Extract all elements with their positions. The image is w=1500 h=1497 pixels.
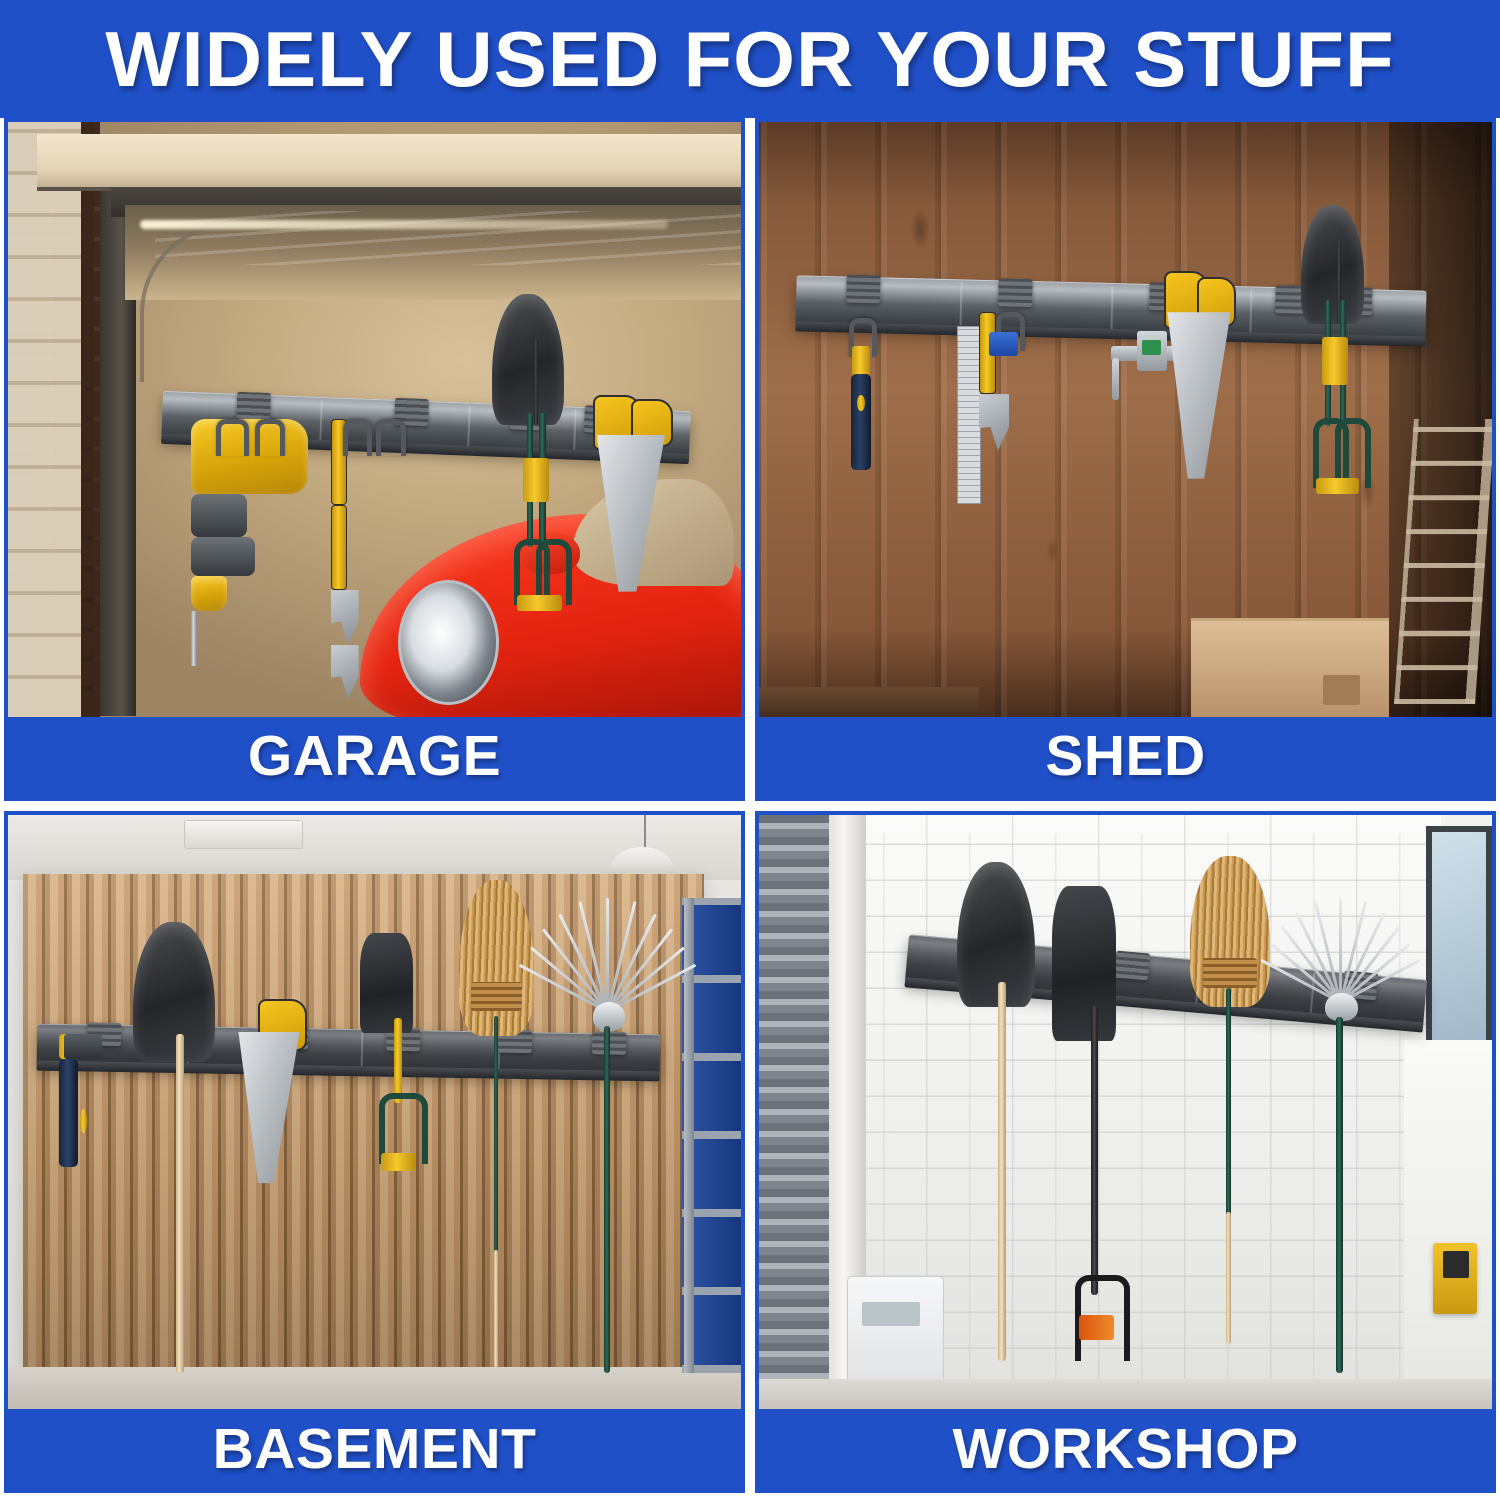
ceiling-vent [184, 820, 303, 849]
tool-loppers [499, 413, 580, 615]
broom-handle [1226, 988, 1231, 1222]
panel-shed: SHED [755, 118, 1496, 801]
panel-workshop: WORKSHOP [755, 811, 1496, 1494]
caliper-jaw [1112, 358, 1119, 400]
broom-handle-tip [494, 1250, 498, 1367]
hook [376, 419, 405, 456]
broom-handle [494, 1016, 498, 1260]
tool-corn-broom [1184, 856, 1279, 1343]
tool-shovel [957, 862, 1060, 1361]
hammer-head [64, 1034, 102, 1059]
caption-label: SHED [1045, 728, 1205, 785]
wrench-handle [331, 505, 347, 590]
caption-workshop: WORKSHOP [759, 1409, 1492, 1489]
header-banner: WIDELY USED FOR YOUR STUFF [0, 0, 1500, 118]
tool-rotary-hammer-drill [191, 419, 330, 615]
hook-bracket [846, 274, 881, 303]
ruler-body [957, 326, 981, 505]
tool-hand-saw [1162, 271, 1250, 479]
shovel-blade [133, 922, 215, 1062]
hook [216, 419, 248, 455]
caption-label: BASEMENT [213, 1421, 537, 1478]
caption-label: WORKSHOP [953, 1421, 1299, 1478]
shovel-blade [492, 294, 564, 425]
box-label [1323, 675, 1360, 705]
spade-shaft [1091, 1006, 1098, 1296]
tool-spade [360, 933, 441, 1183]
spade-grip-bar [381, 1153, 416, 1170]
garage-photo [8, 122, 741, 717]
tool-loppers [1301, 300, 1374, 502]
roller-door [759, 815, 840, 1410]
tool-fan-rake [543, 898, 675, 1374]
tool-steel-ruler [957, 318, 979, 502]
panel-basement: BASEMENT [4, 811, 745, 1494]
ceiling-light [140, 220, 668, 229]
workshop-photo [759, 815, 1492, 1410]
shovel-shaft [176, 1034, 184, 1373]
drill-motor [191, 494, 247, 537]
stone-column [8, 122, 81, 717]
broom-band [471, 982, 522, 1011]
hammer-grip [59, 1059, 77, 1167]
broom-band [1203, 958, 1256, 987]
page-title: WIDELY USED FOR YOUR STUFF [105, 20, 1394, 98]
product-infographic: WIDELY USED FOR YOUR STUFF [0, 0, 1500, 1497]
tool-adjustable-wrench-pair [331, 419, 419, 580]
rake-tine [1339, 898, 1342, 1003]
lopper-base [1316, 478, 1359, 494]
basement-photo [8, 815, 741, 1410]
tool-shovel [492, 294, 587, 425]
hook [255, 419, 284, 455]
shovel-shaft [534, 339, 539, 425]
broom-bristles [459, 880, 535, 1036]
boiler-display [862, 1302, 921, 1326]
drill-bit [191, 611, 197, 666]
tool-hand-saw [587, 395, 682, 591]
saw-blade [597, 435, 666, 592]
basement-floor [8, 1367, 741, 1409]
spade-grip-bar [1079, 1315, 1114, 1340]
hook [343, 419, 372, 456]
lopper-base [517, 595, 562, 611]
door-lintel [37, 134, 741, 192]
spade-blade [360, 933, 413, 1033]
panel-garage: GARAGE [4, 118, 745, 801]
rake-tine [606, 898, 609, 1012]
tool-spade [1052, 886, 1155, 1385]
rake-handle [1336, 1017, 1343, 1374]
car-headlight [398, 580, 499, 705]
wrench-blue-insert [989, 332, 1017, 355]
spade-shaft [394, 1018, 402, 1103]
shovel-blade [957, 862, 1035, 1007]
wrench-jaw [979, 394, 1009, 451]
tool-fan-rake [1272, 898, 1411, 1374]
saw-blade [238, 1032, 299, 1183]
window [1426, 826, 1492, 1064]
lopper-grip [1322, 337, 1348, 386]
shed-photo [759, 122, 1492, 717]
hook-bracket [236, 392, 271, 420]
gauge-face [1443, 1251, 1469, 1278]
rake-handle [604, 1026, 611, 1373]
caliper-display [1142, 340, 1161, 355]
caption-basement: BASEMENT [8, 1409, 741, 1489]
saw-blade [1167, 312, 1230, 478]
tool-shovel [133, 922, 236, 1374]
tool-utility-knife [840, 318, 884, 473]
tool-adjustable-wrench [979, 312, 1038, 478]
scene-grid: GARAGE [0, 118, 1500, 1497]
tool-corn-broom [455, 880, 543, 1367]
lopper-grip [523, 458, 549, 502]
tool-hand-saw [235, 999, 316, 1183]
tool-claw-hammer [59, 1034, 110, 1189]
drill-body [191, 419, 308, 494]
caption-label: GARAGE [248, 728, 501, 785]
shovel-shaft [998, 982, 1006, 1362]
knife-body [851, 374, 871, 470]
hook-bracket [997, 278, 1032, 307]
spade-blade [1052, 886, 1116, 1041]
broom-handle-tip [1226, 1212, 1231, 1344]
shed-floor [759, 687, 979, 717]
lamp-cord [644, 815, 646, 851]
caption-garage: GARAGE [8, 717, 741, 797]
drill-chuck [191, 537, 255, 576]
drill-grip [191, 576, 227, 611]
hammer-accent [80, 1109, 87, 1134]
right-partition [1404, 1040, 1492, 1409]
caption-shed: SHED [759, 717, 1492, 797]
